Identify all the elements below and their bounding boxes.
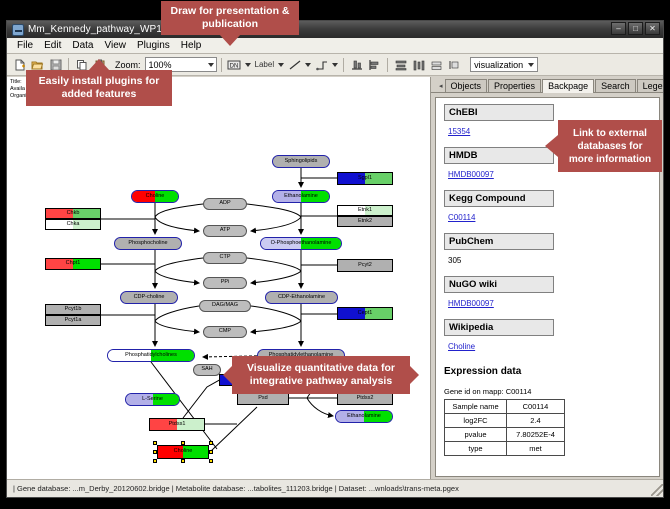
node-label: DAG/MAG	[211, 303, 239, 309]
gene-node[interactable]: Sgpl1	[337, 172, 393, 185]
node-label: CDP-Ethanolamine	[277, 295, 326, 301]
node-label: PPi	[220, 280, 231, 286]
visualization-combobox[interactable]: visualization	[470, 57, 538, 72]
menu-edit[interactable]: Edit	[39, 39, 67, 52]
row-value: 2.4	[507, 414, 565, 428]
row-value: met	[507, 442, 565, 456]
pathway-node[interactable]: CDP-Ethanolamine	[265, 291, 338, 304]
callout-visualize: Visualize quantitative data for integrat…	[232, 356, 410, 394]
pathway-node[interactable]: ATP	[203, 225, 247, 237]
visualization-value: visualization	[474, 60, 523, 70]
zoom-value: 100%	[149, 60, 172, 70]
row-value: C00114	[507, 400, 565, 414]
gene-node[interactable]: Etnk1	[337, 205, 393, 216]
node-label: Ptdss1	[168, 422, 187, 428]
align-top-icon[interactable]	[348, 56, 365, 73]
callout-links: Link to external databases for more info…	[558, 120, 662, 172]
node-label: Ethanolamine	[283, 194, 319, 200]
pathway-node[interactable]: L-Serine	[125, 393, 180, 406]
table-row: type met	[445, 442, 565, 456]
callout-plugins-text: Easily install plugins for added feature…	[32, 75, 166, 101]
node-label: Choline	[145, 194, 166, 200]
interaction-icon[interactable]	[313, 56, 330, 73]
pathway-node[interactable]: PPi	[203, 277, 247, 289]
gene-node[interactable]: Pcyt2	[337, 259, 393, 272]
pubchem-value: 305	[448, 256, 461, 265]
node-label: Sphingolipids	[284, 159, 319, 165]
table-row: log2FC 2.4	[445, 414, 565, 428]
pathway-node[interactable]: DAG/MAG	[199, 300, 251, 312]
svg-text:DN: DN	[230, 63, 239, 69]
callout-arrow-down-icon	[219, 34, 241, 46]
tab-search[interactable]: Search	[595, 79, 636, 92]
callout-visualize-text: Visualize quantitative data for integrat…	[238, 362, 404, 388]
gene-node[interactable]: Pcyt1a	[45, 315, 101, 326]
node-label: Chka	[66, 222, 81, 228]
window-controls: – □ ✕	[611, 22, 660, 35]
callout-draw-text: Draw for presentation & publication	[167, 5, 293, 31]
pathway-node[interactable]: Choline	[131, 190, 179, 203]
gene-node[interactable]: Cept1	[337, 307, 393, 320]
wikipedia-link[interactable]: Choline	[448, 342, 475, 351]
row-value: 7.80252E-4	[507, 428, 565, 442]
backpage-heading-nugo: NuGO wiki	[444, 276, 554, 293]
expression-data-title: Expression data	[444, 366, 651, 377]
pathway-node[interactable]: Phosphocholine	[114, 237, 182, 250]
label-button[interactable]: Label	[253, 60, 277, 69]
node-label: Ptdss2	[356, 396, 375, 402]
node-label: Etnk2	[357, 219, 373, 225]
tab-backpage[interactable]: Backpage	[542, 79, 594, 93]
callout-arrow-up-icon	[88, 59, 110, 71]
callout-plugins: Easily install plugins for added feature…	[26, 70, 172, 106]
distribute-vertical-icon[interactable]	[392, 56, 409, 73]
side-pane-tabs: ◂ Objects Properties Backpage Search Leg…	[431, 77, 664, 93]
callout-links-text: Link to external databases for more info…	[564, 127, 656, 166]
callout-draw: Draw for presentation & publication	[161, 1, 299, 35]
gene-id-line: Gene id on mapp: C00114	[444, 387, 651, 396]
pathway-node[interactable]: Ethanolamine	[335, 410, 393, 423]
row-key: type	[445, 442, 507, 456]
pathway-node[interactable]: CMP	[203, 326, 247, 338]
maximize-button[interactable]: □	[628, 22, 643, 35]
node-label: Chkb	[66, 211, 81, 217]
node-label: CMP	[218, 329, 232, 335]
node-label: Chpt1	[65, 261, 82, 267]
chevron-down-icon	[332, 63, 338, 67]
node-label: ATP	[219, 228, 231, 234]
chebi-link[interactable]: 15354	[448, 127, 470, 136]
pathway-node[interactable]: Phosphatidylcholines	[107, 349, 195, 362]
tab-properties[interactable]: Properties	[488, 79, 541, 92]
pathway-node[interactable]: ADP	[203, 198, 247, 210]
nugo-link[interactable]: HMDB00097	[448, 299, 494, 308]
pathway-info-labels: Title: Availa Organi	[10, 79, 27, 100]
node-label: CDP-choline	[133, 295, 166, 301]
row-key: Sample name	[445, 400, 507, 414]
node-label: Pcyt1b	[64, 307, 83, 313]
info-organism-label: Organi	[10, 93, 27, 100]
node-label: Pcyt1a	[64, 318, 83, 324]
node-label: Psd	[257, 396, 268, 402]
info-availability-label: Availa	[10, 86, 27, 93]
chevron-down-icon	[528, 63, 534, 67]
app-icon	[12, 24, 24, 36]
node-label: ADP	[218, 201, 231, 207]
pathway-node[interactable]: CDP-choline	[120, 291, 178, 304]
node-label: Choline	[173, 449, 194, 455]
node-label: Ethanolamine	[346, 414, 382, 420]
distribute-horizontal-icon[interactable]	[410, 56, 427, 73]
menu-help[interactable]: Help	[176, 39, 208, 52]
toolbar-separator	[387, 58, 388, 72]
status-bar: | Gene database: ...m_Derby_20120602.bri…	[7, 479, 664, 497]
info-title-label: Title:	[10, 79, 27, 86]
minimize-button[interactable]: –	[611, 22, 626, 35]
menu-data[interactable]: Data	[67, 39, 99, 52]
row-key: pvalue	[445, 428, 507, 442]
interaction-dropdown[interactable]	[331, 57, 339, 73]
expression-table: Sample name C00114 log2FC 2.4 pvalue 7.8…	[444, 399, 565, 456]
same-width-icon[interactable]	[428, 56, 445, 73]
tab-legend[interactable]: Legend	[637, 79, 664, 92]
chevron-down-icon	[278, 63, 284, 67]
gene-node[interactable]: Ptdss1	[149, 418, 205, 431]
gene-node[interactable]: Pcyt1b	[45, 304, 101, 315]
resize-grip[interactable]	[651, 484, 663, 496]
status-text: | Gene database: ...m_Derby_20120602.bri…	[13, 484, 459, 493]
pathway-node[interactable]: SAH	[193, 364, 221, 376]
pathway-node[interactable]: O-Phosphoethanolamine	[260, 237, 342, 250]
node-label: L-Serine	[141, 397, 164, 403]
hmdb-link[interactable]: HMDB00097	[448, 170, 494, 179]
node-label: Phosphatidylcholines	[124, 353, 178, 359]
table-row: pvalue 7.80252E-4	[445, 428, 565, 442]
line-dropdown[interactable]	[304, 57, 312, 73]
callout-notch-left-icon	[223, 366, 232, 384]
menu-plugins[interactable]: Plugins	[132, 39, 176, 52]
datanode-icon[interactable]: DN	[226, 56, 243, 73]
backpage-heading-wikipedia: Wikipedia	[444, 319, 554, 336]
node-label: Etnk1	[357, 208, 373, 214]
node-label: SAH	[200, 367, 213, 373]
node-label: Phosphocholine	[127, 241, 168, 247]
node-label: Cept1	[357, 311, 374, 317]
title-bar: Mm_Kennedy_pathway_WP1771_45176.gpml – □…	[7, 21, 663, 38]
menu-file[interactable]: File	[12, 39, 39, 52]
toolbar-separator	[343, 58, 344, 72]
label-dropdown[interactable]	[277, 57, 285, 73]
node-label: O-Phosphoethanolamine	[270, 241, 333, 247]
node-label: Sgpl1	[357, 176, 373, 182]
chevron-down-icon	[305, 63, 311, 67]
menu-bar: File Edit Data View Plugins Help	[7, 38, 663, 54]
tab-objects[interactable]: Objects	[445, 79, 488, 92]
backpage-heading-chebi: ChEBI	[444, 104, 554, 121]
close-button[interactable]: ✕	[645, 22, 660, 35]
screenshot-root: Mm_Kennedy_pathway_WP1771_45176.gpml – □…	[0, 0, 670, 509]
row-key: log2FC	[445, 414, 507, 428]
kegg-link[interactable]: C00114	[448, 213, 475, 222]
pathway-node[interactable]: CTP	[203, 252, 247, 264]
gene-node[interactable]: Chka	[45, 219, 101, 230]
same-height-icon[interactable]	[446, 56, 463, 73]
menu-view[interactable]: View	[99, 39, 132, 52]
align-left-icon[interactable]	[366, 56, 383, 73]
gene-node[interactable]: Chpt1	[45, 258, 101, 270]
backpage-heading-kegg: Kegg Compound	[444, 190, 554, 207]
chevron-down-icon	[208, 63, 214, 67]
chevron-down-icon	[245, 63, 251, 67]
callout-arrow-left-icon	[545, 135, 558, 157]
pathway-node[interactable]: Ethanolamine	[272, 190, 330, 203]
zoom-label: Zoom:	[115, 60, 141, 70]
toolbar-separator	[221, 58, 222, 72]
gene-node[interactable]: Etnk2	[337, 216, 393, 227]
node-label: CTP	[219, 255, 232, 261]
backpage-heading-pubchem: PubChem	[444, 233, 554, 250]
table-row: Sample name C00114	[445, 400, 565, 414]
line-icon[interactable]	[286, 56, 303, 73]
backpage-heading-hmdb: HMDB	[444, 147, 554, 164]
callout-notch-right-icon	[410, 366, 419, 384]
datanode-dropdown[interactable]	[244, 57, 252, 73]
pathway-node[interactable]: Sphingolipids	[272, 155, 330, 168]
node-label: Pcyt2	[357, 263, 373, 269]
pathway-canvas[interactable]: Title: Availa Organi	[7, 77, 431, 481]
gene-node[interactable]: Chkb	[45, 208, 101, 219]
